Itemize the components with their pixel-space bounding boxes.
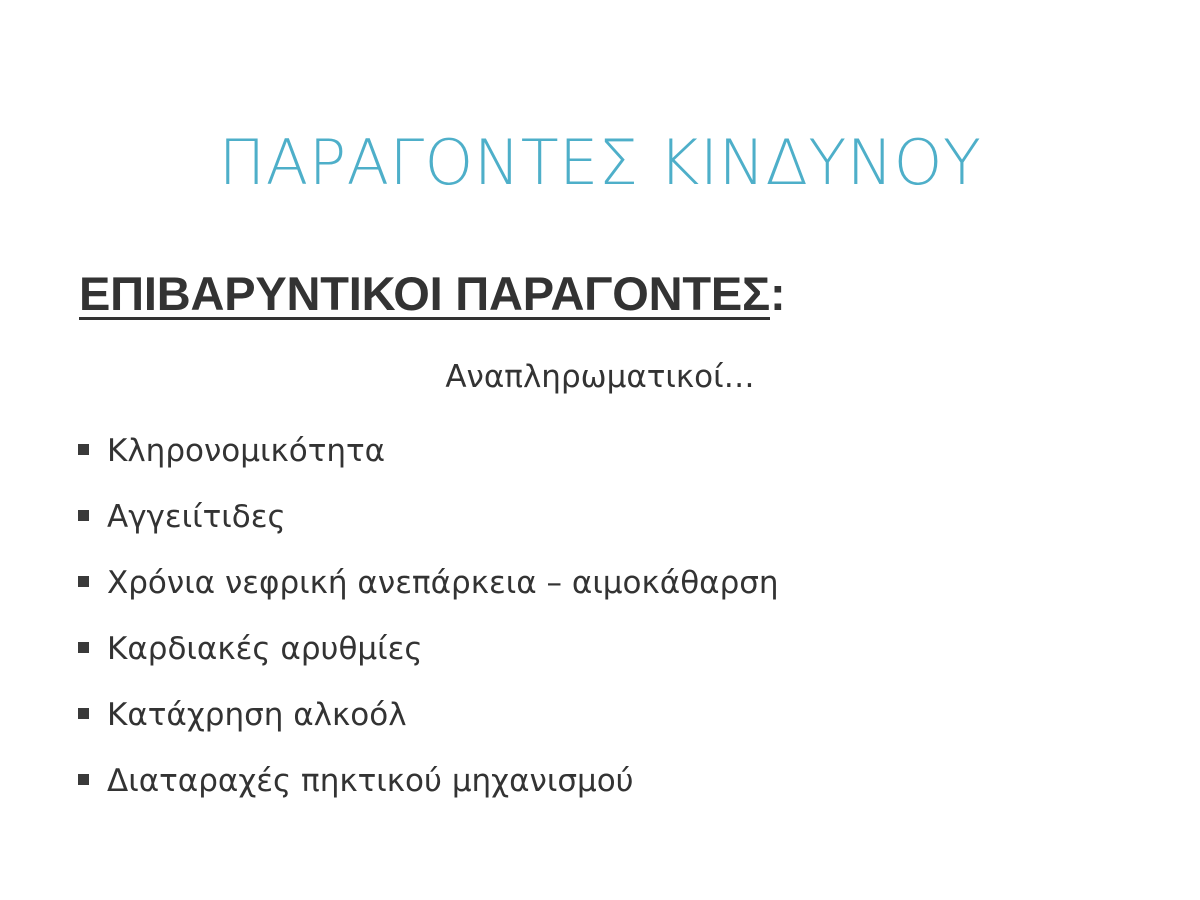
list-item-label: Χρόνια νεφρική ανεπάρκεια – αιμοκάθαρση bbox=[107, 550, 779, 616]
square-bullet-icon bbox=[78, 576, 89, 587]
list-item-label: Καρδιακές αρυθμίες bbox=[107, 616, 423, 682]
list-item-label: Διαταραχές πηκτικού μηχανισμού bbox=[107, 748, 634, 814]
square-bullet-icon bbox=[78, 642, 89, 653]
list-item-label: Κληρονομικότητα bbox=[107, 418, 385, 484]
presentation-slide: ΠΑΡΑΓΟΝΤΕΣ ΚΙΝΔΥΝΟΥ ΕΠΙΒΑΡΥΝΤΙΚΟΙ ΠΑΡΑΓΟ… bbox=[0, 0, 1200, 900]
list-item: Διαταραχές πηκτικού μηχανισμού bbox=[78, 748, 1138, 814]
square-bullet-icon bbox=[78, 708, 89, 719]
risk-factor-list: Κληρονομικότητα Αγγειίτιδες Χρόνια νεφρι… bbox=[78, 418, 1138, 814]
list-item: Αγγειίτιδες bbox=[78, 484, 1138, 550]
list-item: Καρδιακές αρυθμίες bbox=[78, 616, 1138, 682]
section-heading: ΕΠΙΒΑΡΥΝΤΙΚΟΙ ΠΑΡΑΓΟΝΤΕΣ: bbox=[79, 266, 785, 322]
slide-title: ΠΑΡΑΓΟΝΤΕΣ ΚΙΝΔΥΝΟΥ bbox=[0, 126, 1200, 200]
list-item: Χρόνια νεφρική ανεπάρκεια – αιμοκάθαρση bbox=[78, 550, 1138, 616]
list-item: Κληρονομικότητα bbox=[78, 418, 1138, 484]
square-bullet-icon bbox=[78, 510, 89, 521]
list-item-label: Κατάχρηση αλκοόλ bbox=[107, 682, 407, 748]
list-item-label: Αγγειίτιδες bbox=[107, 484, 286, 550]
square-bullet-icon bbox=[78, 444, 89, 455]
sub-heading: Αναπληρωματικοί… bbox=[0, 357, 1200, 397]
section-heading-colon: : bbox=[770, 267, 785, 320]
list-item: Κατάχρηση αλκοόλ bbox=[78, 682, 1138, 748]
square-bullet-icon bbox=[78, 774, 89, 785]
section-heading-label: ΕΠΙΒΑΡΥΝΤΙΚΟΙ ΠΑΡΑΓΟΝΤΕΣ bbox=[79, 267, 770, 320]
